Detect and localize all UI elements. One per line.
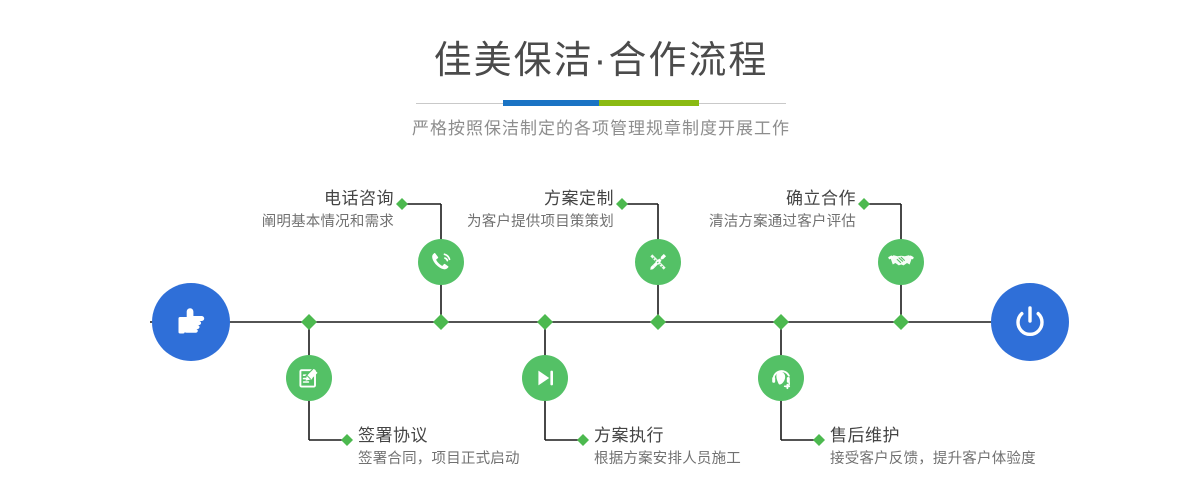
- spine-diamond: [537, 314, 553, 330]
- node-step-plan-customize[interactable]: [635, 239, 681, 285]
- pencil-ruler-icon: [644, 248, 672, 276]
- label-anchor-diamond: [858, 198, 870, 210]
- spine-diamond: [773, 314, 789, 330]
- label-desc: 清洁方案通过客户评估: [586, 211, 856, 234]
- label-title: 售后维护: [830, 424, 1100, 448]
- phone-call-icon: [427, 248, 455, 276]
- flow-finish-endcap[interactable]: [991, 283, 1069, 361]
- flow-start-endcap[interactable]: [152, 283, 230, 361]
- handshake-icon: [886, 247, 916, 277]
- label-step-establish-coop: 确立合作 清洁方案通过客户评估: [586, 187, 856, 234]
- label-step-sign-agreement: 签署协议 签署合同，项目正式启动: [358, 424, 628, 471]
- node-step-sign-agreement[interactable]: [286, 355, 332, 401]
- label-step-plan-customize: 方案定制 为客户提供项目策策划: [344, 187, 614, 234]
- label-title: 签署协议: [358, 424, 628, 448]
- label-desc: 根据方案安排人员施工: [594, 448, 864, 471]
- label-desc: 为客户提供项目策策划: [344, 211, 614, 234]
- document-edit-icon: [295, 364, 323, 392]
- play-forward-icon: [531, 364, 559, 392]
- node-step-after-sales[interactable]: [758, 355, 804, 401]
- node-step-establish-coop[interactable]: [878, 239, 924, 285]
- label-title: 确立合作: [586, 187, 856, 211]
- label-title: 方案执行: [594, 424, 864, 448]
- label-step-after-sales: 售后维护 接受客户反馈，提升客户体验度: [830, 424, 1100, 471]
- spine-diamond: [433, 314, 449, 330]
- node-step-phone-consult[interactable]: [418, 239, 464, 285]
- node-step-plan-execute[interactable]: [522, 355, 568, 401]
- label-title: 方案定制: [344, 187, 614, 211]
- cooperation-flow-infographic: 佳美保洁·合作流程 严格按照保洁制定的各项管理规章制度开展工作: [0, 0, 1202, 502]
- power-icon: [1008, 300, 1052, 344]
- headset-support-icon: [767, 364, 795, 392]
- spine-diamond: [893, 314, 909, 330]
- pointing-hand-icon: [169, 300, 213, 344]
- label-step-plan-execute: 方案执行 根据方案安排人员施工: [594, 424, 864, 471]
- spine-diamond: [650, 314, 666, 330]
- label-desc: 接受客户反馈，提升客户体验度: [830, 448, 1100, 471]
- label-desc: 签署合同，项目正式启动: [358, 448, 628, 471]
- label-anchor-diamond: [341, 434, 353, 446]
- spine-diamond: [301, 314, 317, 330]
